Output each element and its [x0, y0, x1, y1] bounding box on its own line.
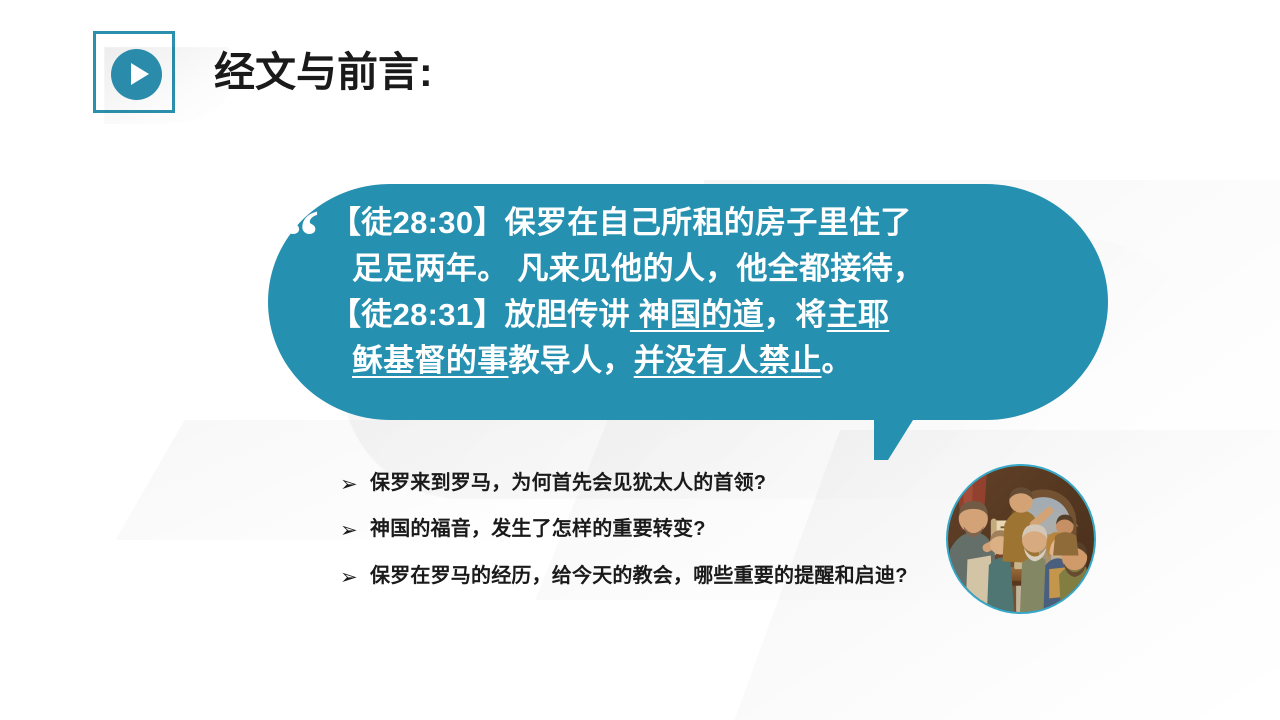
- scripture-text: 【徒28:30】保罗在自己所租的房子里住了足足两年。 凡来见他的人，他全都接待，…: [330, 200, 1030, 384]
- quote-bubble-tail: [874, 412, 918, 460]
- arrow-bullet-icon: ➢: [340, 516, 370, 544]
- scripture-text-run: 足足两年。 凡来见他的人，他全都接待，: [352, 251, 924, 286]
- scripture-emphasis: 神国的道: [630, 297, 764, 332]
- question-text: 保罗来到罗马，为何首先会见犹太人的首领?: [370, 470, 920, 498]
- list-item: ➢神国的福音，发生了怎样的重要转变?: [340, 516, 920, 544]
- play-triangle-glyph: [131, 63, 149, 85]
- scripture-line: 【徒28:30】保罗在自己所租的房子里住了: [330, 200, 1030, 246]
- slide-header: 经文与前言:: [0, 0, 1280, 150]
- scripture-text-run: 【徒28:30】保罗在自己所租的房子里住了: [330, 205, 912, 240]
- scripture-text-run: 教导人，: [509, 343, 634, 378]
- paul-teaching-in-rome-illustration: [946, 464, 1096, 614]
- play-icon[interactable]: [111, 49, 162, 100]
- list-item: ➢保罗来到罗马，为何首先会见犹太人的首领?: [340, 470, 920, 498]
- scripture-emphasis: 稣基督的事: [352, 343, 509, 378]
- slide-canvas: 经文与前言: “ 【徒28:30】保罗在自己所租的房子里住了足足两年。 凡来见他…: [0, 0, 1280, 720]
- scripture-line: 【徒28:31】放胆传讲 神国的道，将主耶: [330, 292, 1030, 338]
- scripture-line: 稣基督的事教导人，并没有人禁止。: [330, 338, 1030, 384]
- arrow-bullet-icon: ➢: [340, 563, 370, 591]
- scripture-line: 足足两年。 凡来见他的人，他全都接待，: [330, 246, 1030, 292]
- scripture-emphasis: 并没有人禁止: [634, 343, 822, 378]
- scripture-emphasis: 主耶: [827, 297, 890, 332]
- scripture-text-run: 【徒28:31】放胆传讲: [330, 297, 630, 332]
- page-title: 经文与前言:: [214, 49, 433, 96]
- scripture-text-run: ，将: [764, 297, 827, 332]
- arrow-bullet-icon: ➢: [340, 470, 370, 498]
- quote-mark-icon: “: [268, 200, 334, 274]
- list-item: ➢保罗在罗马的经历，给今天的教会，哪些重要的提醒和启迪?: [340, 563, 920, 591]
- question-text: 保罗在罗马的经历，给今天的教会，哪些重要的提醒和启迪?: [370, 563, 920, 591]
- question-text: 神国的福音，发生了怎样的重要转变?: [370, 516, 920, 544]
- scripture-text-run: 。: [822, 343, 853, 378]
- question-list: ➢保罗来到罗马，为何首先会见犹太人的首领?➢神国的福音，发生了怎样的重要转变?➢…: [340, 470, 920, 609]
